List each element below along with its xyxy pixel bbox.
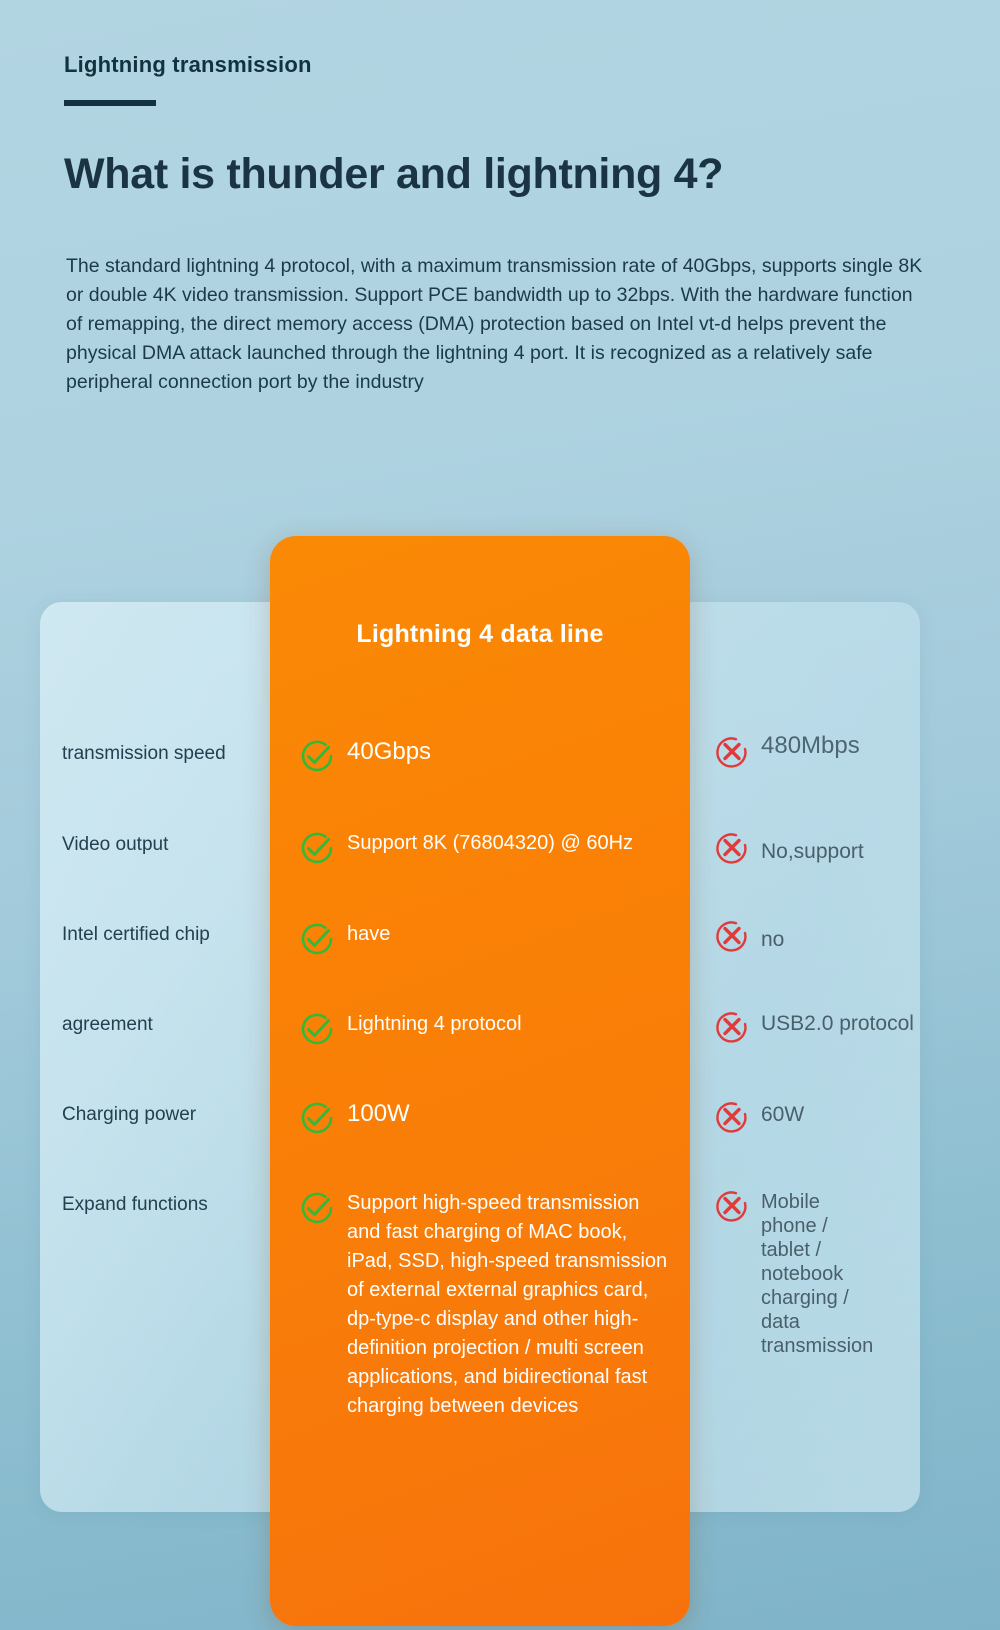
check-circle-icon — [297, 736, 337, 776]
check-circle-icon — [297, 1009, 337, 1049]
comparison-section: transmission speed Video output Intel ce… — [0, 0, 1000, 1630]
pro-value-charging-power: 100W — [347, 1098, 410, 1129]
feature-label-agreement: agreement — [62, 1014, 153, 1036]
check-circle-icon — [297, 1188, 337, 1228]
x-circle-icon — [712, 732, 752, 772]
con-value-transmission-speed: 480Mbps — [761, 732, 860, 758]
x-circle-icon — [712, 916, 752, 956]
x-circle-icon — [712, 1097, 752, 1137]
pro-row-video-output: Support 8K (76804320) @ 60Hz — [297, 828, 669, 868]
pro-value-intel-certified-chip: have — [347, 919, 390, 948]
pro-row-charging-power: 100W — [297, 1098, 669, 1138]
check-circle-icon — [297, 828, 337, 868]
x-circle-icon — [712, 1186, 752, 1226]
pro-value-video-output: Support 8K (76804320) @ 60Hz — [347, 828, 633, 857]
pro-value-transmission-speed: 40Gbps — [347, 736, 431, 767]
con-row-agreement: USB2.0 protocol — [712, 1007, 942, 1047]
con-value-video-output: No,support — [761, 828, 864, 864]
con-row-video-output: No,support — [712, 828, 942, 868]
feature-label-video-output: Video output — [62, 834, 168, 856]
pro-value-expand-functions: Support high-speed transmission and fast… — [347, 1188, 669, 1421]
x-circle-icon — [712, 828, 752, 868]
feature-label-transmission-speed: transmission speed — [62, 743, 226, 765]
con-value-charging-power: 60W — [761, 1097, 804, 1127]
pro-row-transmission-speed: 40Gbps — [297, 736, 669, 776]
con-row-transmission-speed: 480Mbps — [712, 732, 942, 772]
highlight-card-title: Lightning 4 data line — [270, 620, 690, 649]
check-circle-icon — [297, 919, 337, 959]
feature-label-intel-certified-chip: Intel certified chip — [62, 924, 210, 946]
feature-label-expand-functions: Expand functions — [62, 1194, 208, 1216]
con-value-expand-functions: Mobile phone / tablet / notebook chargin… — [761, 1186, 873, 1358]
pro-row-intel-certified-chip: have — [297, 919, 669, 959]
con-row-intel-certified-chip: no — [712, 916, 942, 956]
pro-row-agreement: Lightning 4 protocol — [297, 1009, 669, 1049]
con-value-agreement: USB2.0 protocol — [761, 1007, 914, 1036]
con-row-charging-power: 60W — [712, 1097, 942, 1137]
x-circle-icon — [712, 1007, 752, 1047]
lightning4-highlight-card: Lightning 4 data line 40Gbps Support 8K … — [270, 536, 690, 1626]
con-row-expand-functions: Mobile phone / tablet / notebook chargin… — [712, 1186, 862, 1358]
pro-row-expand-functions: Support high-speed transmission and fast… — [297, 1188, 669, 1421]
con-value-intel-certified-chip: no — [761, 916, 784, 952]
check-circle-icon — [297, 1098, 337, 1138]
pro-value-agreement: Lightning 4 protocol — [347, 1009, 522, 1038]
feature-label-charging-power: Charging power — [62, 1104, 196, 1126]
